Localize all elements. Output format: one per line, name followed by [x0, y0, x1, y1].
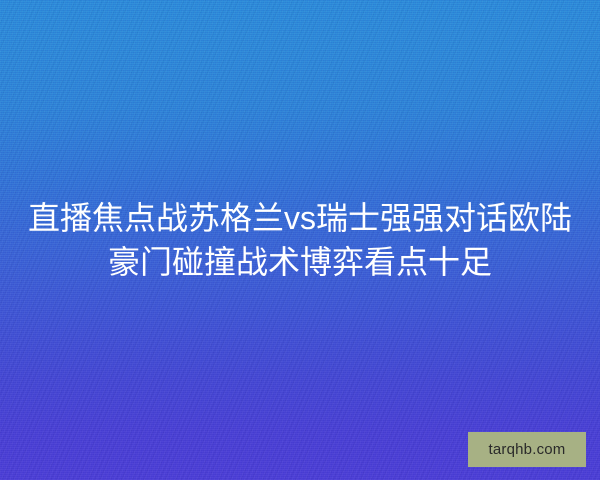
headline-text: 直播焦点战苏格兰vs瑞士强强对话欧陆豪门碰撞战术博弈看点十足	[14, 196, 586, 284]
headline-container: 直播焦点战苏格兰vs瑞士强强对话欧陆豪门碰撞战术博弈看点十足	[0, 0, 600, 480]
watermark-site-label: tarqhb.com	[488, 442, 565, 457]
banner-image: 直播焦点战苏格兰vs瑞士强强对话欧陆豪门碰撞战术博弈看点十足 tarqhb.co…	[0, 0, 600, 480]
watermark-badge: tarqhb.com	[468, 432, 586, 467]
